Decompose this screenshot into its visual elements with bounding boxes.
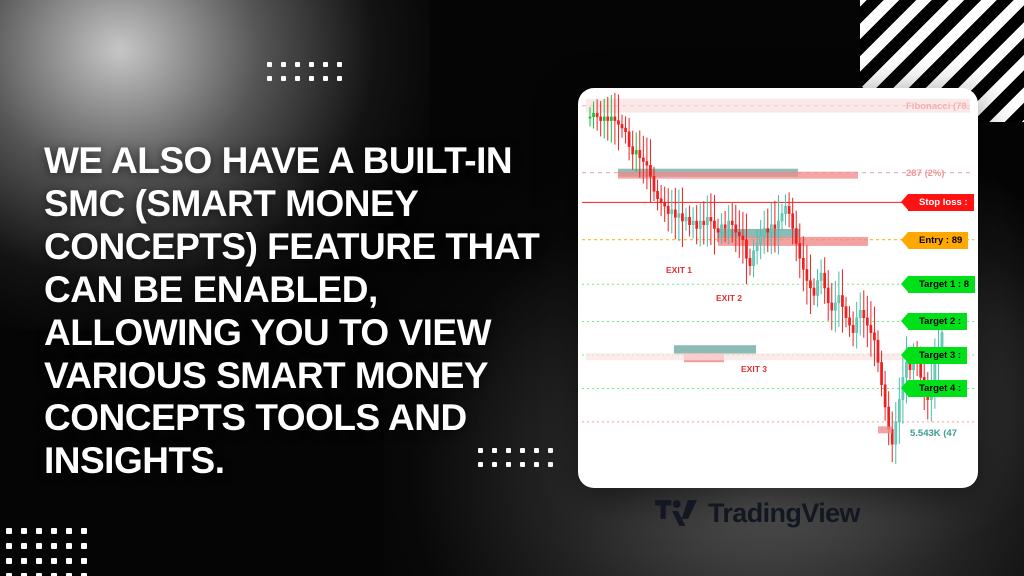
price-tag-label: Target 1 : 8: [919, 279, 969, 290]
dot-grid-top: [267, 62, 347, 86]
grid-dot: [66, 528, 72, 534]
grid-dot: [66, 558, 72, 564]
price-tag: Target 4 :: [908, 380, 967, 397]
grid-dot: [36, 528, 42, 534]
grid-dot: [81, 543, 87, 549]
price-tag-label: Fibonacci (78.: [906, 101, 969, 112]
grid-dot: [51, 528, 57, 534]
grid-dot: [548, 448, 553, 453]
exit-label-3: EXIT 3: [741, 364, 767, 374]
grid-dot: [309, 62, 314, 67]
grid-dot: [51, 543, 57, 549]
grid-dot: [281, 76, 286, 81]
exit-label-2: EXIT 2: [716, 293, 742, 303]
grid-dot: [81, 528, 87, 534]
chart-card[interactable]: Strong Sell EXIT 1 EXIT 2 EXIT 3 Fibonac…: [578, 88, 978, 488]
price-tag: 287 (2%): [900, 165, 951, 182]
grid-dot: [337, 62, 342, 67]
grid-dot: [6, 528, 12, 534]
grid-dot: [21, 543, 27, 549]
grid-dot: [267, 76, 272, 81]
grid-dot: [6, 543, 12, 549]
price-tag-label: Stop loss :: [919, 197, 968, 208]
price-tag: Target 1 : 8: [908, 276, 975, 293]
price-tag-label: Target 4 :: [919, 383, 961, 394]
tradingview-mark-icon: [655, 500, 697, 526]
grid-dot: [323, 62, 328, 67]
grid-dot: [281, 62, 286, 67]
price-tag: Target 2 :: [908, 313, 967, 330]
grid-dot: [36, 543, 42, 549]
price-tag: Entry : 89: [908, 232, 968, 249]
price-tag-label: 5.543K (47: [910, 428, 957, 439]
price-tag-label: 287 (2%): [906, 168, 945, 179]
grid-dot: [267, 62, 272, 67]
tradingview-logo: TradingView: [655, 496, 860, 530]
price-tag: Target 3 :: [908, 347, 967, 364]
price-tag: Stop loss :: [908, 194, 974, 211]
grid-dot: [36, 558, 42, 564]
grid-dot: [21, 558, 27, 564]
grid-dot: [295, 62, 300, 67]
dot-grid-bottom-left: [6, 528, 92, 576]
tradingview-wordmark: TradingView: [708, 498, 860, 529]
price-tag-label: Entry : 89: [919, 235, 962, 246]
grid-dot: [309, 76, 314, 81]
grid-dot: [548, 462, 553, 467]
grid-dot: [6, 558, 12, 564]
grid-dot: [21, 528, 27, 534]
grid-dot: [323, 76, 328, 81]
price-tag: Fibonacci (78.: [900, 98, 975, 115]
grid-dot: [81, 558, 87, 564]
slide-canvas: WE ALSO HAVE A BUILT-IN SMC (SMART MONEY…: [0, 0, 1024, 576]
grid-dot: [295, 76, 300, 81]
price-tag: 5.543K (47: [904, 425, 963, 442]
page-title: WE ALSO HAVE A BUILT-IN SMC (SMART MONEY…: [44, 140, 544, 483]
grid-dot: [337, 76, 342, 81]
grid-dot: [51, 558, 57, 564]
price-tag-label: Target 3 :: [919, 350, 961, 361]
price-tag-label: Target 2 :: [919, 316, 961, 327]
exit-label-1: EXIT 1: [666, 265, 692, 275]
grid-dot: [66, 543, 72, 549]
